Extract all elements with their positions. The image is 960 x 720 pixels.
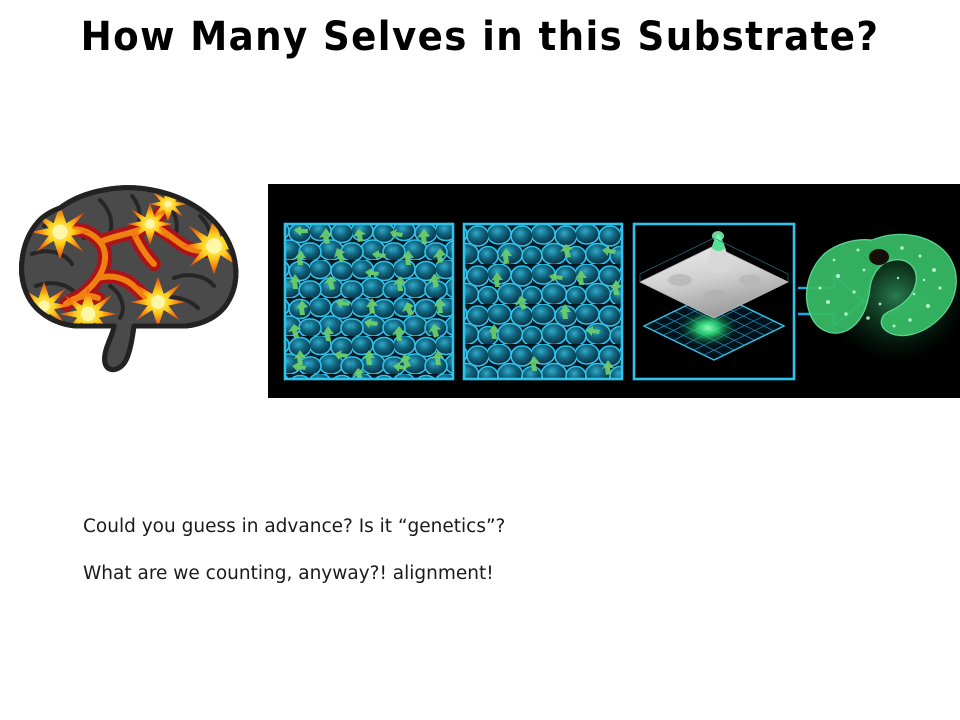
body-text-block: Could you guess in advance? Is it “genet… [83, 518, 683, 583]
body-line-2: What are we counting, anyway?! alignment… [83, 565, 683, 584]
embryo-eye-spot [869, 249, 889, 265]
bioelectric-pattern-figure [268, 184, 960, 398]
brain-activation-illustration [14, 182, 258, 382]
body-line-1: Could you guess in advance? Is it “genet… [83, 518, 683, 537]
panel-1-cell-array-depolarized [285, 224, 453, 380]
panel-strip-svg [268, 184, 960, 398]
page-title: How Many Selves in this Substrate? [34, 14, 927, 60]
panel-3-bioelectric-landscape [634, 224, 794, 379]
brain-svg [14, 182, 258, 382]
panel-2-cell-array-sparse [464, 224, 622, 379]
